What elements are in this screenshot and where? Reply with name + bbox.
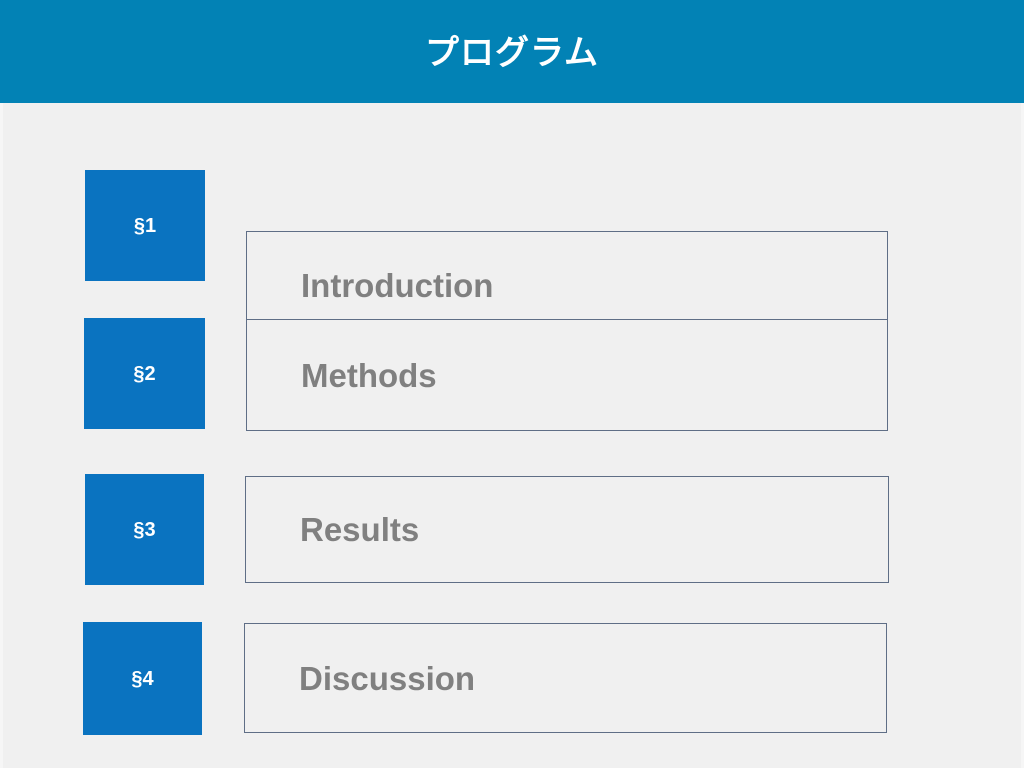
section-title-label: Introduction (247, 269, 493, 302)
section-badge-4[interactable]: §4 (83, 622, 202, 735)
section-box-2[interactable]: Methods (246, 319, 888, 431)
section-box-3[interactable]: Results (245, 476, 889, 583)
section-title-label: Methods (247, 359, 437, 392)
section-badge-label: §4 (131, 669, 153, 689)
agenda-row[interactable]: §3 Results (0, 466, 1024, 586)
section-badge-label: §1 (134, 216, 156, 236)
agenda-row[interactable]: §4 Discussion (0, 615, 1024, 735)
section-title-label: Discussion (245, 662, 475, 695)
section-badge-label: §2 (133, 364, 155, 384)
section-badge-2[interactable]: §2 (84, 318, 205, 429)
page-title: プログラム (425, 36, 599, 70)
presentation-slide: プログラム §1 Introduction §2 Methods §3 Resu (0, 0, 1024, 768)
agenda-row[interactable]: §1 Introduction (0, 163, 1024, 283)
section-badge-label: §3 (133, 520, 155, 540)
section-title-label: Results (246, 513, 419, 546)
slide-header: プログラム (0, 0, 1024, 103)
agenda-list: §1 Introduction §2 Methods §3 Results (0, 103, 1024, 768)
section-box-4[interactable]: Discussion (244, 623, 887, 733)
agenda-row[interactable]: §2 Methods (0, 311, 1024, 431)
section-badge-3[interactable]: §3 (85, 474, 204, 585)
section-badge-1[interactable]: §1 (85, 170, 205, 281)
